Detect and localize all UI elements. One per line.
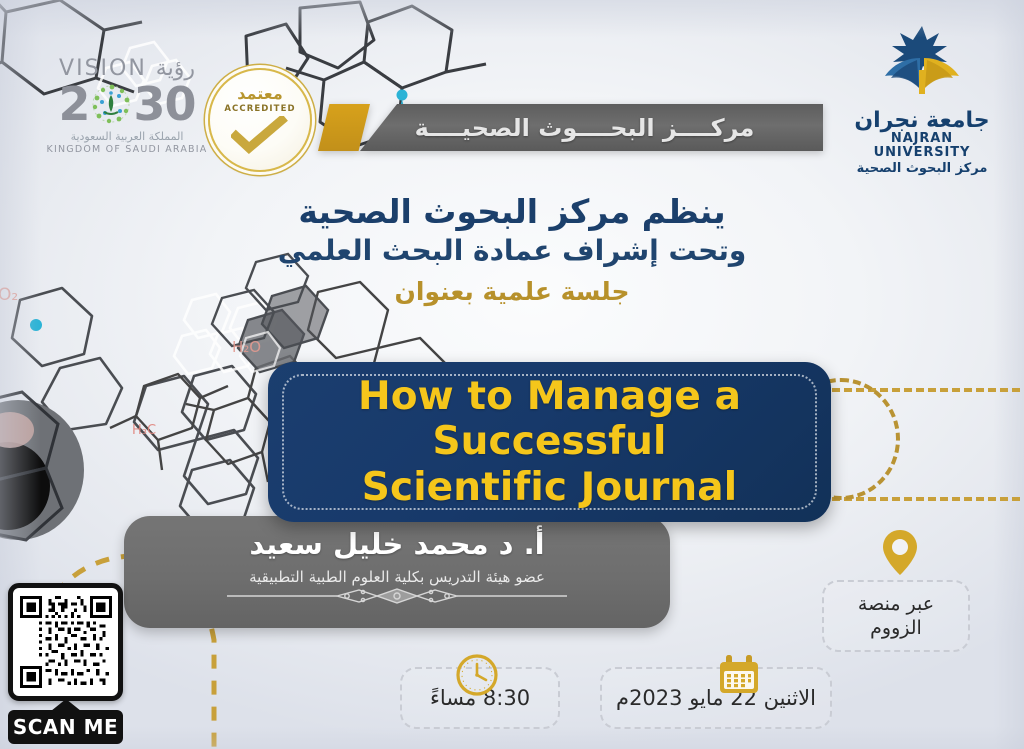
molecule-label-water: H₂O [232,338,261,356]
checkmark-icon [231,116,289,158]
location-pin-icon [880,528,920,582]
banner-title: مركــــز البحــــوث الصحيــــة [415,114,769,142]
location-line-2: الزووم [870,616,922,640]
vision-kingdom-en: KINGDOM OF SAUDI ARABIA [46,144,208,155]
scan-me-label: SCAN ME [8,710,123,744]
qr-code-block[interactable]: SCAN ME [8,583,123,744]
session-title: How to Manage a Successful Scientific Jo… [268,374,831,511]
accreditation-badge: معتمد ACCREDITED [208,68,312,172]
banner-gold-accent [318,104,370,151]
session-title-line-2: Scientific Journal [286,465,813,511]
najran-emblem-icon [842,24,1002,108]
session-title-box: How to Manage a Successful Scientific Jo… [268,362,831,522]
speaker-name: أ. د محمد خليل سعيد [249,529,544,561]
najran-name-en: NAJRAN UNIVERSITY [842,132,1002,161]
event-date: الاثنين 22 مايو 2023م [616,686,816,710]
announcement-line-2: وتحت إشراف عمادة البحث العلمي [0,233,1024,269]
vision-year-2: 2 [58,81,89,127]
speaker-panel: أ. د محمد خليل سعيد عضو هيئة التدريس بكل… [124,516,670,628]
speaker-role: عضو هيئة التدريس بكلية العلوم الطبية الت… [249,568,545,586]
qr-code-frame[interactable] [8,583,123,701]
vision-kingdom-ar: المملكة العربية السعودية [46,130,208,143]
vision-year-3: 3 [133,81,164,127]
ornamental-divider [124,588,670,604]
qr-code-image[interactable] [20,596,112,688]
najran-center-ar: مركز البحوث الصحية [842,162,1002,177]
calendar-icon [718,653,760,701]
announcement-line-1: ينظم مركز البحوث الصحية [0,192,1024,232]
announcement-block: ينظم مركز البحوث الصحية وتحت إشراف عمادة… [0,192,1024,308]
vision-2030-logo: VISION رؤية 2 [46,58,208,155]
teal-dot [30,319,42,331]
vision-year-0: 0 [165,81,196,127]
palm-emblem-icon [89,82,133,126]
header-banner: مركــــز البحــــوث الصحيــــة [318,104,823,151]
event-poster: H₂O O₂ H₃C VISION رؤية 2 [0,0,1024,749]
najran-university-logo: جامعة نجران NAJRAN UNIVERSITY مركز البحو… [842,24,1002,177]
accredited-label-en: ACCREDITED [224,104,295,114]
molecule-label-methyl: H₃C [132,423,156,438]
najran-name-ar: جامعة نجران [842,109,1002,132]
date-chip: الاثنين 22 مايو 2023م [600,667,832,729]
announcement-line-3: جلسة علمية بعنوان [0,276,1024,309]
accredited-label-ar: معتمد [237,86,282,102]
location-chip: عبر منصة الزووم [822,580,970,652]
banner-gray-body: مركــــز البحــــوث الصحيــــة [360,104,823,151]
session-title-line-1: How to Manage a Successful [286,374,813,465]
clock-icon [455,653,499,701]
location-line-1: عبر منصة [858,592,934,616]
